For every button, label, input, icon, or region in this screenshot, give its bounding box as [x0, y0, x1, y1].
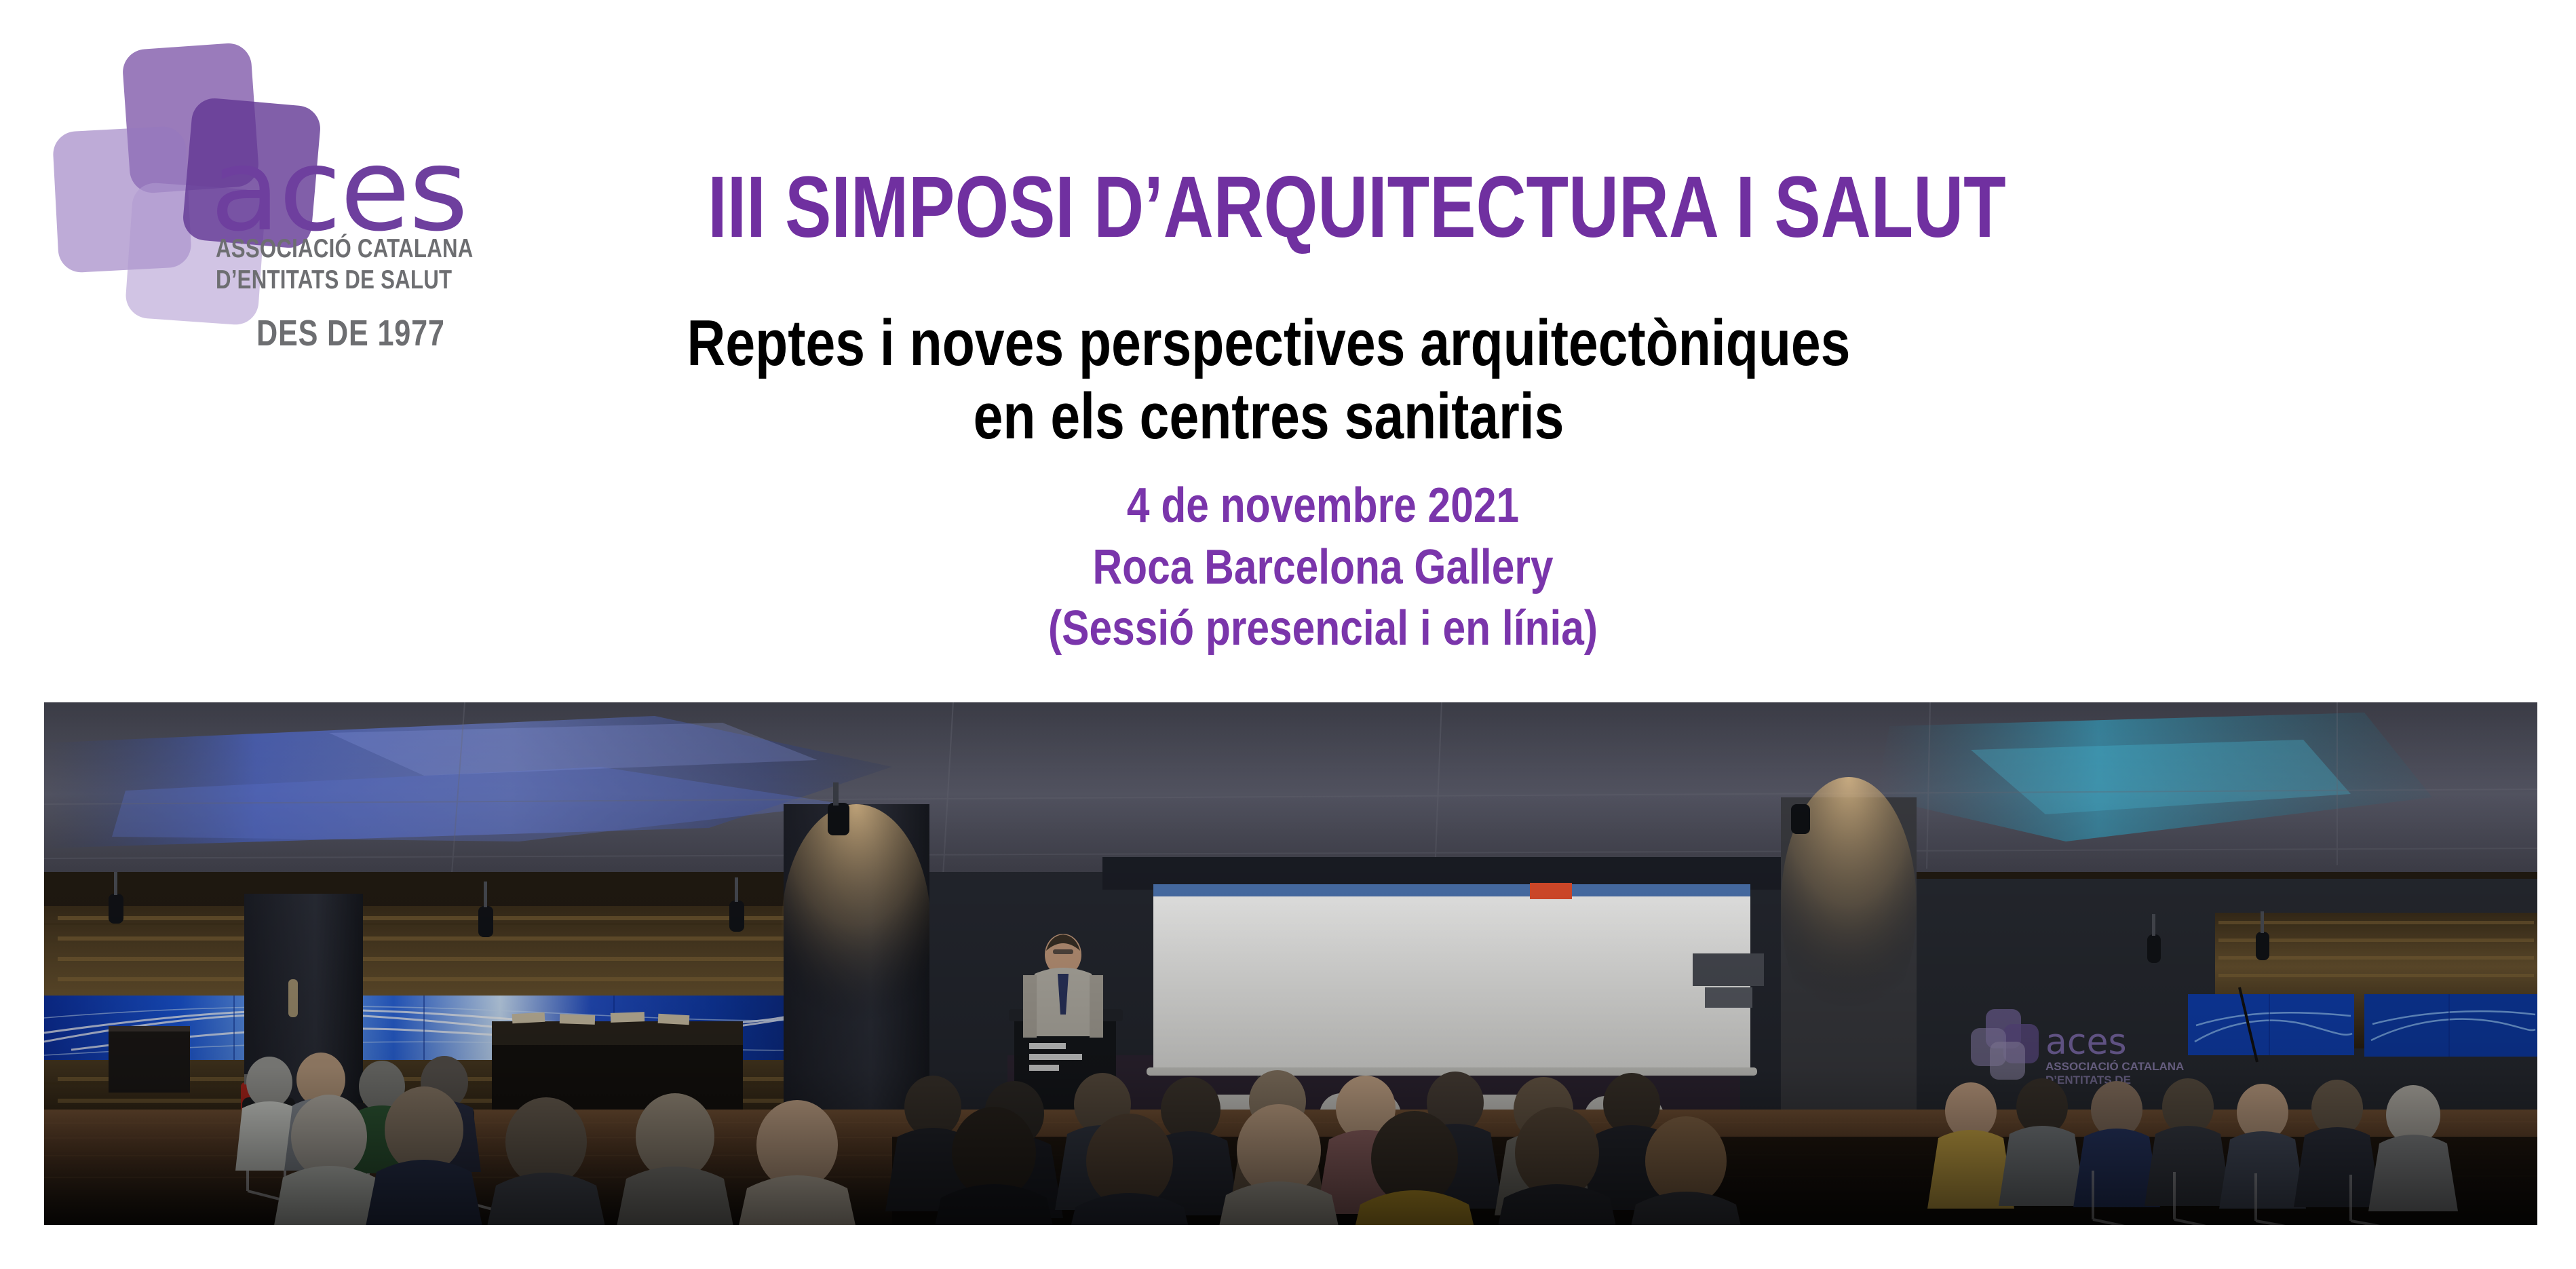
page-title: III SIMPOSI D’ARQUITECTURA I SALUT [684, 164, 2030, 251]
aces-since-label: DES DE 1977 [256, 312, 445, 354]
event-format: (Sessió presencial i en línia) [827, 598, 1819, 660]
event-date: 4 de novembre 2021 [827, 475, 1819, 537]
aces-tagline-line-1: ASSOCIACIÓ CATALANA [216, 233, 444, 265]
event-details: 4 de novembre 2021 Roca Barcelona Galler… [827, 475, 1819, 660]
auditorium-photo-illustration: aces ASSOCIACIÓ CATALANA D’ENTITATS DE [44, 702, 2537, 1225]
page-subtitle-line-2: en els centres sanitaris [618, 380, 1920, 453]
event-venue: Roca Barcelona Gallery [827, 537, 1819, 599]
aces-wordmark: aces [210, 144, 467, 238]
aces-tagline: ASSOCIACIÓ CATALANA D’ENTITATS DE SALUT [216, 233, 444, 296]
auditorium-photo: aces ASSOCIACIÓ CATALANA D’ENTITATS DE [44, 702, 2537, 1225]
page-subtitle-line-1: Reptes i noves perspectives arquitectòni… [618, 307, 1920, 380]
aces-logo: aces ASSOCIACIÓ CATALANA D’ENTITATS DE S… [53, 42, 541, 361]
page-subtitle: Reptes i noves perspectives arquitectòni… [618, 307, 1920, 453]
poster-root: aces ASSOCIACIÓ CATALANA D’ENTITATS DE S… [0, 0, 2576, 1269]
aces-tagline-line-2: D’ENTITATS DE SALUT [216, 265, 444, 296]
